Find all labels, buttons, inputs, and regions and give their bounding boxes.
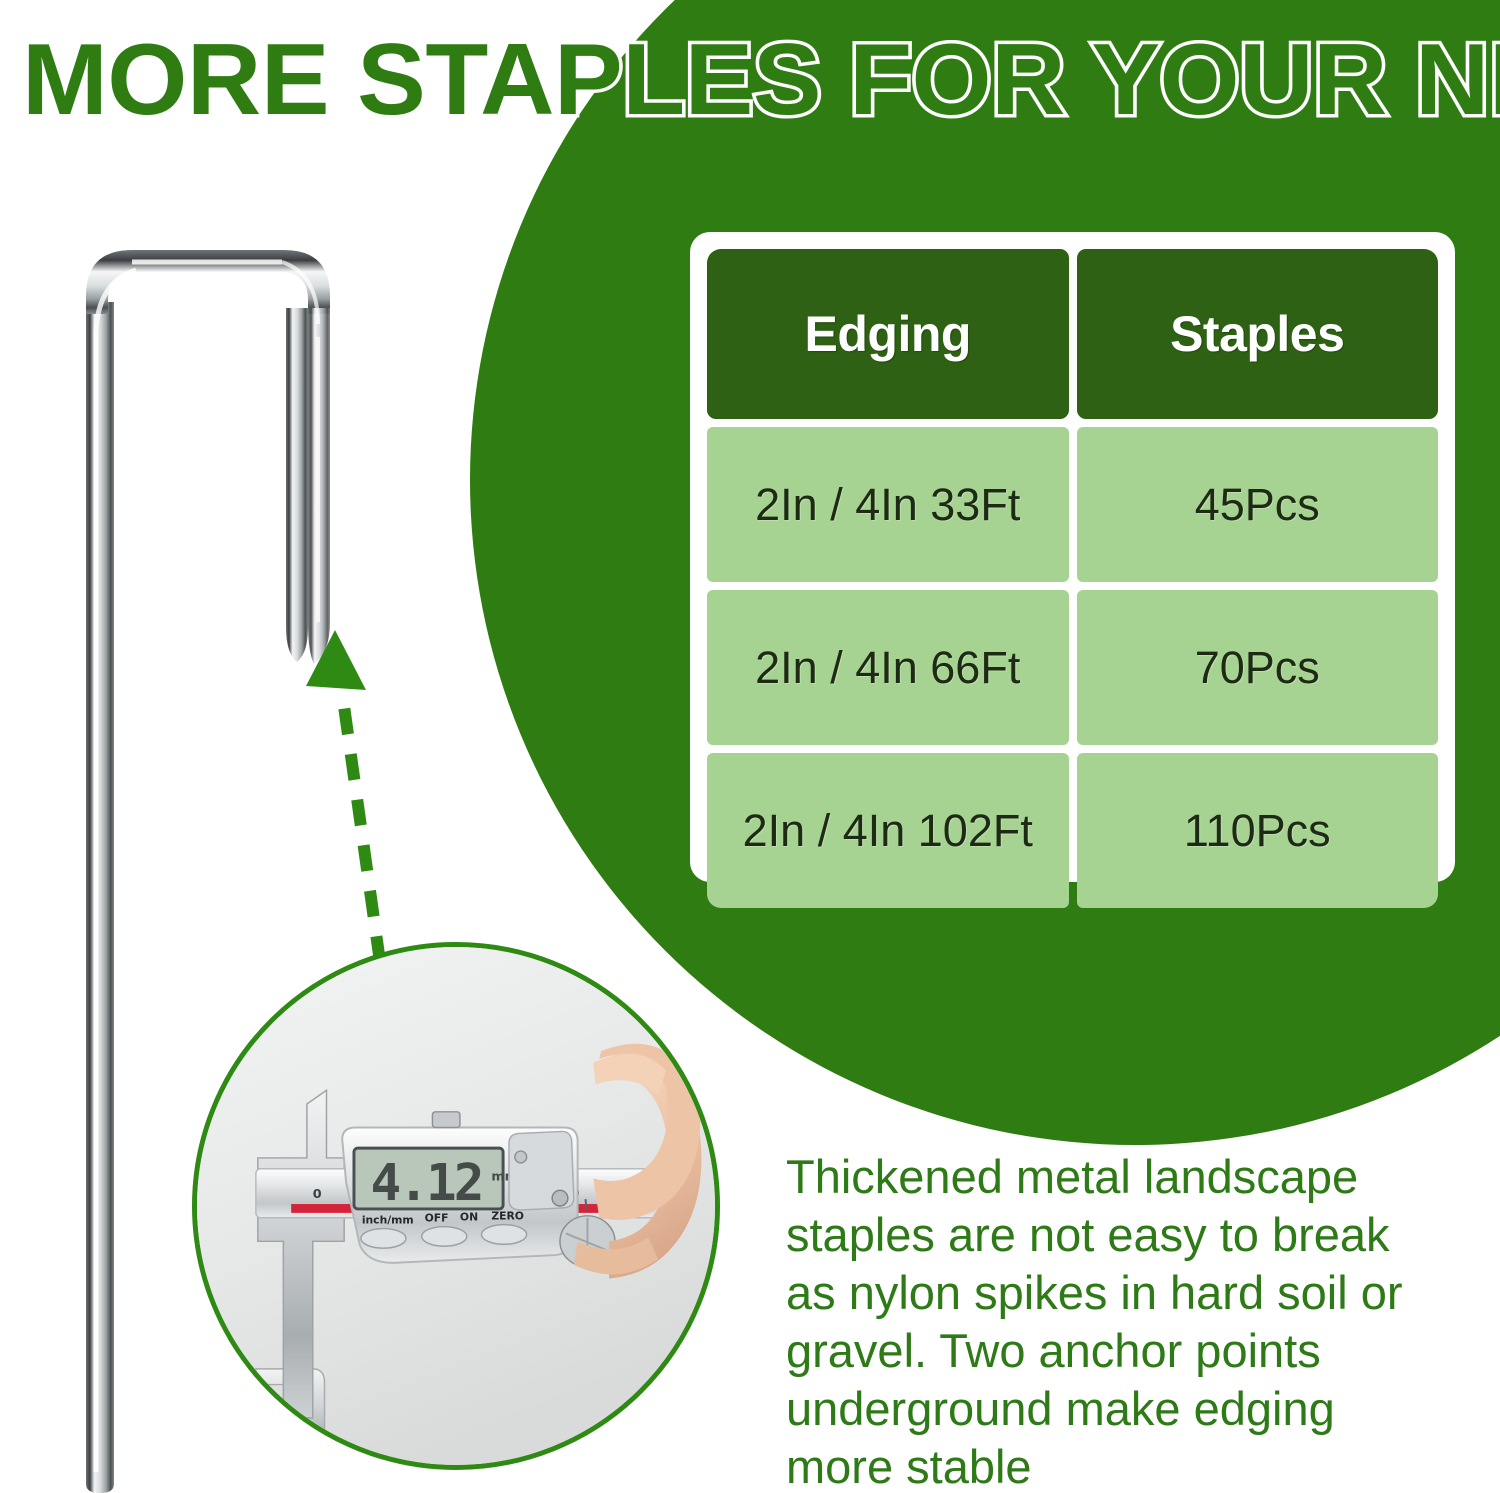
column-header-staples: Staples [1077, 249, 1439, 419]
page-title: MORE STAPLES FOR YOUR NEEDS [22, 26, 1500, 134]
table-row: 2In / 4In 33Ft 45Pcs [707, 427, 1438, 582]
edging-staples-table: Edging Staples 2In / 4In 33Ft 45Pcs 2In … [690, 232, 1455, 882]
cell-edging-2: 2In / 4In 66Ft [707, 590, 1069, 745]
svg-text:ZERO: ZERO [491, 1210, 524, 1223]
svg-text:inch/mm: inch/mm [362, 1214, 414, 1227]
caliper-measurement-photo: 0 70 80 4.12 mm inch/mm OFF [192, 942, 720, 1470]
svg-text:OFF: OFF [425, 1212, 449, 1225]
dashed-callout-arrow-icon [280, 612, 470, 972]
cell-edging-1: 2In / 4In 33Ft [707, 427, 1069, 582]
cell-edging-3: 2In / 4In 102Ft [707, 753, 1069, 908]
cell-staples-2: 70Pcs [1077, 590, 1439, 745]
product-infographic: MORE STAPLES FOR YOUR NEEDS [0, 0, 1500, 1493]
svg-text:4.12: 4.12 [370, 1154, 481, 1213]
svg-text:0: 0 [313, 1187, 322, 1202]
table-row: 2In / 4In 66Ft 70Pcs [707, 590, 1438, 745]
column-header-edging: Edging [707, 249, 1069, 419]
table-header-row: Edging Staples [707, 249, 1438, 419]
cell-staples-1: 45Pcs [1077, 427, 1439, 582]
table-row: 2In / 4In 102Ft 110Pcs [707, 753, 1438, 908]
cell-staples-3: 110Pcs [1077, 753, 1439, 908]
product-description: Thickened metal landscape staples are no… [786, 1148, 1446, 1493]
svg-text:ON: ON [460, 1211, 478, 1224]
